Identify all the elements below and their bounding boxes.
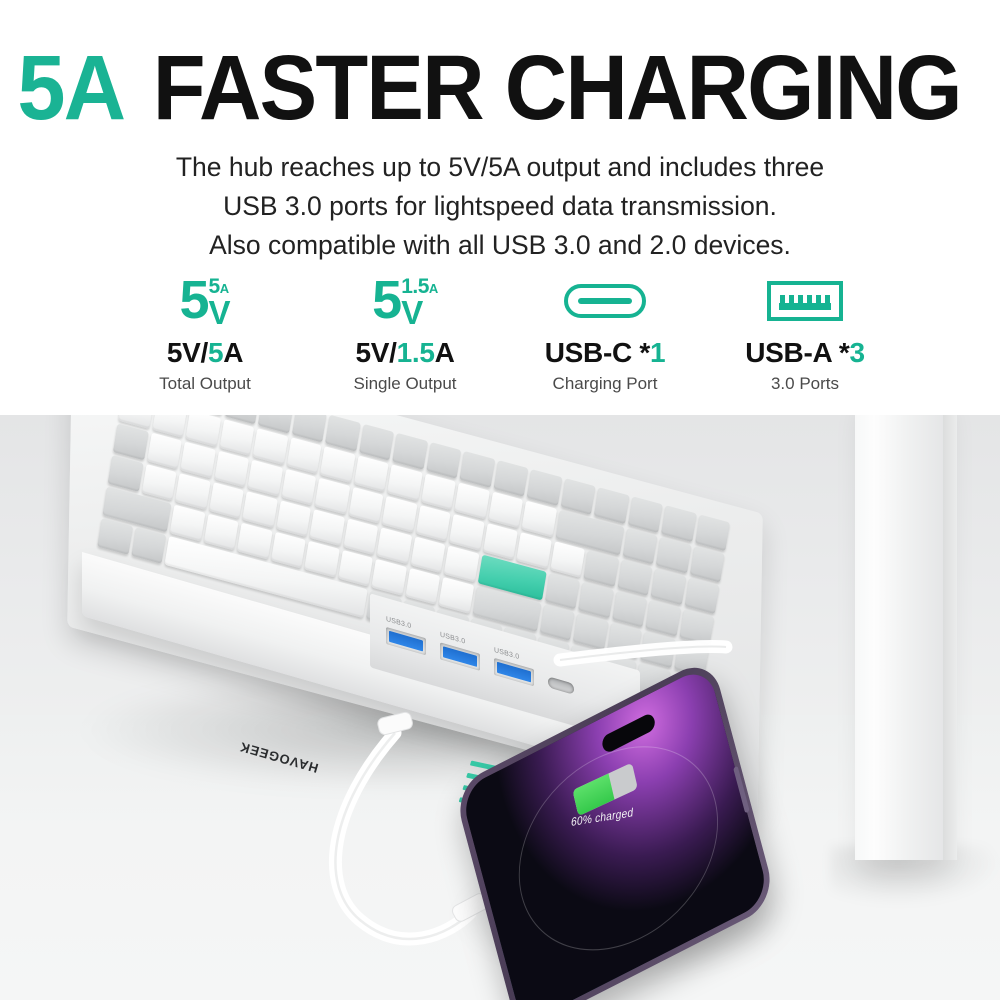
key — [147, 432, 182, 469]
key — [449, 514, 484, 551]
key — [645, 600, 680, 637]
key — [286, 437, 321, 474]
feature-title-plain: 5V/ — [167, 337, 208, 368]
usb-port-insert — [389, 630, 423, 651]
key-tab — [113, 423, 148, 460]
key — [622, 528, 657, 565]
feature-title-plain: USB-A * — [745, 337, 849, 368]
key — [573, 613, 608, 650]
feature-usb-c: USB-C *1 Charging Port — [510, 272, 700, 396]
glyph-unit: V — [209, 299, 231, 326]
key — [488, 491, 523, 528]
key — [521, 501, 556, 538]
feature-title: USB-A *3 — [745, 336, 864, 370]
feature-title: 5V/5A — [167, 336, 243, 370]
key — [444, 545, 479, 582]
key — [170, 505, 205, 542]
key — [405, 568, 440, 605]
key — [309, 509, 344, 546]
feature-title-plain: 5V/ — [355, 337, 396, 368]
key — [483, 523, 518, 560]
usb-port-label: USB3.0 — [440, 631, 465, 645]
feature-single-output: 5 1.5A V 5V/1.5A Single Output — [310, 272, 500, 396]
key — [606, 622, 641, 659]
key — [376, 527, 411, 564]
key — [689, 546, 724, 583]
key — [253, 428, 288, 465]
subheadline-line-3: Also compatible with all USB 3.0 and 2.0… — [100, 226, 900, 265]
headline-main: FASTER CHARGING — [153, 42, 961, 134]
key — [550, 541, 585, 578]
feature-title-accent: 1 — [650, 337, 665, 368]
feature-title-tail: A — [223, 337, 243, 368]
subheadline: The hub reaches up to 5V/5A output and i… — [100, 148, 900, 265]
glyph-big-digit: 5 — [372, 277, 400, 323]
five-volt-5a-icon: 5 5A V — [179, 272, 230, 330]
subheadline-line-2: USB 3.0 ports for lightspeed data transm… — [100, 187, 900, 226]
usb-port-insert — [443, 646, 477, 667]
key — [583, 550, 618, 587]
key — [421, 473, 456, 510]
usb-a-port-2[interactable]: USB3.0 — [440, 642, 480, 670]
key — [544, 573, 579, 610]
usb-a-port-icon — [767, 272, 843, 330]
key — [382, 496, 417, 533]
key — [141, 464, 176, 501]
feature-subtitle: Total Output — [159, 372, 251, 396]
key-caps — [108, 455, 143, 492]
key — [348, 487, 383, 524]
key — [237, 523, 272, 560]
key — [304, 541, 339, 578]
key — [203, 514, 238, 551]
key — [454, 482, 489, 519]
glyph-big-digit: 5 — [179, 277, 207, 323]
feature-title-plain: USB-C * — [545, 337, 650, 368]
key — [175, 473, 210, 510]
subheadline-line-1: The hub reaches up to 5V/5A output and i… — [100, 148, 900, 187]
product-photo: USB3.0 USB3.0 USB3.0 HAVOGEEK — [0, 415, 1000, 1000]
usb-c-port-icon — [564, 272, 646, 330]
key — [578, 582, 613, 619]
usb-a-port-1[interactable]: USB3.0 — [386, 626, 426, 654]
key — [270, 532, 305, 569]
key — [651, 568, 686, 605]
feature-title: USB-C *1 — [545, 336, 666, 370]
usb-port-label: USB3.0 — [386, 615, 411, 629]
feature-subtitle: 3.0 Ports — [771, 372, 839, 396]
key — [276, 500, 311, 537]
glyph-sup-unit: A — [429, 281, 438, 296]
key — [315, 478, 350, 515]
key — [656, 537, 691, 574]
feature-title-accent: 5 — [208, 337, 223, 368]
key — [219, 419, 254, 456]
headline-accent: 5A — [17, 42, 124, 134]
key — [617, 559, 652, 596]
key — [281, 469, 316, 506]
feature-usb-a: USB-A *3 3.0 Ports — [710, 272, 900, 396]
feature-title-tail: A — [435, 337, 455, 368]
key — [387, 464, 422, 501]
feature-subtitle: Single Output — [353, 372, 456, 396]
glyph-unit: V — [401, 299, 423, 326]
key — [242, 491, 277, 528]
page-title: 5AFASTER CHARGING — [0, 42, 1000, 134]
key — [208, 482, 243, 519]
key — [516, 532, 551, 569]
key-alt — [131, 527, 166, 564]
desk-side-panel — [855, 415, 943, 860]
key — [684, 577, 719, 614]
key — [640, 631, 675, 668]
key — [320, 446, 355, 483]
key — [338, 550, 373, 587]
key — [415, 505, 450, 542]
feature-total-output: 5 5A V 5V/5A Total Output — [110, 272, 300, 396]
key — [410, 536, 445, 573]
key — [679, 609, 714, 646]
key-win — [97, 518, 132, 555]
usb-port-insert — [497, 661, 531, 682]
feature-title: 5V/1.5A — [355, 336, 454, 370]
key — [539, 604, 574, 641]
key — [214, 451, 249, 488]
key — [343, 518, 378, 555]
feature-title-accent: 1.5 — [397, 337, 435, 368]
usb-c-charging-port[interactable] — [548, 676, 574, 694]
key — [371, 559, 406, 596]
key — [353, 455, 388, 492]
usb-port-label: USB3.0 — [494, 646, 519, 660]
feature-title-accent: 3 — [849, 337, 864, 368]
five-volt-1-5a-icon: 5 1.5A V — [372, 272, 438, 330]
feature-spec-row: 5 5A V 5V/5A Total Output 5 1.5A V — [110, 272, 900, 396]
usb-a-port-3[interactable]: USB3.0 — [494, 657, 534, 685]
key — [180, 442, 215, 479]
marketing-banner: 5AFASTER CHARGING The hub reaches up to … — [0, 0, 1000, 1000]
key — [438, 577, 473, 614]
key — [612, 591, 647, 628]
key — [247, 460, 282, 497]
feature-subtitle: Charging Port — [553, 372, 658, 396]
